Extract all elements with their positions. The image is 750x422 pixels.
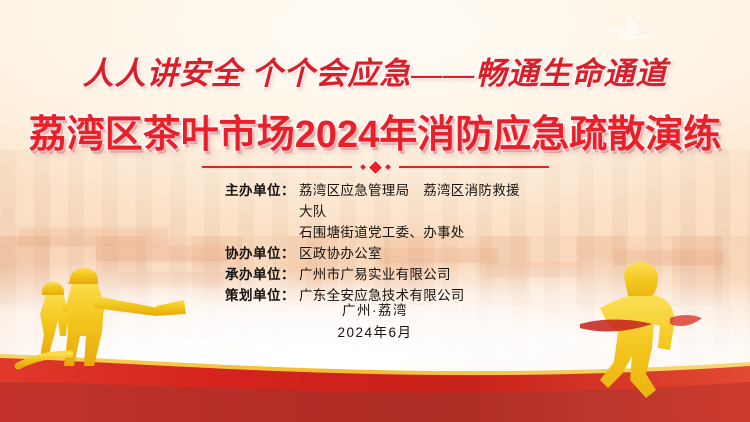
divider-line-right [399,166,549,168]
ornament-dot [385,164,391,170]
ornament-diamond [366,158,384,176]
organizer-value: 广州市广易实业有限公司 [299,264,451,285]
organizer-list: 主办单位： 荔湾区应急管理局 荔湾区消防救援大队 石围塘街道党工委、办事处 协办… [0,180,750,306]
organizer-value: 荔湾区应急管理局 荔湾区消防救援大队 [299,180,525,222]
diamond-ornament-icon [361,161,390,174]
organizer-label: 承办单位： [225,264,299,285]
event-location: 广州·荔湾 [0,300,750,322]
organizer-row: 主办单位： 荔湾区应急管理局 荔湾区消防救援大队 [225,180,525,222]
organizer-value: 区政协办公室 [299,243,382,264]
organizer-row: 协办单位： 区政协办公室 [225,243,525,264]
divider-line-left [202,166,352,168]
decorative-divider [0,160,750,174]
ornament-dot [360,164,366,170]
organizer-value: 石围塘街道党工委、办事处 [299,222,465,243]
poster-headline: 人人讲安全 个个会应急——畅通生命通道 [0,48,750,93]
poster-main-title: 荔湾区茶叶市场2024年消防应急疏散演练 [0,103,750,158]
event-date: 2024年6月 [0,322,750,344]
organizer-label: 协办单位： [225,243,299,264]
organizer-label: 主办单位： [225,180,299,201]
poster-content: 人人讲安全 个个会应急——畅通生命通道 荔湾区茶叶市场2024年消防应急疏散演练… [0,0,750,422]
event-place-date: 广州·荔湾 2024年6月 [0,300,750,344]
poster-canvas: 人人讲安全 个个会应急——畅通生命通道 荔湾区茶叶市场2024年消防应急疏散演练… [0,0,750,422]
organizer-row: 石围塘街道党工委、办事处 [225,222,525,243]
organizer-row: 承办单位： 广州市广易实业有限公司 [225,264,525,285]
